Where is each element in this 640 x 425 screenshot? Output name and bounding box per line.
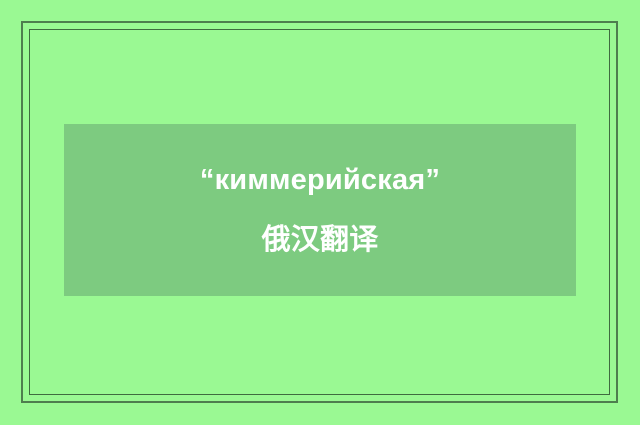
banner-canvas: “киммерийская” 俄汉翻译 [0, 0, 640, 425]
banner-title: “киммерийская” 俄汉翻译 [184, 150, 456, 270]
title-card: “киммерийская” 俄汉翻译 [64, 124, 576, 296]
